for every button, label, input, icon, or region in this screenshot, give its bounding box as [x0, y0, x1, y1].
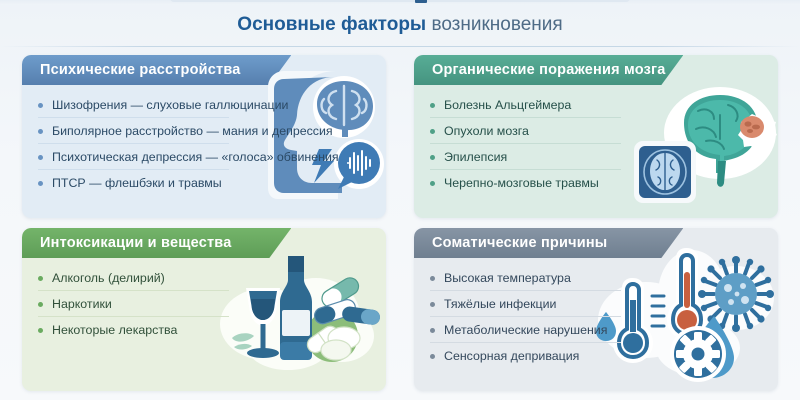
list-item: Черепно-мозговые травмы [430, 170, 778, 196]
list-item: Сенсорная депривация [430, 343, 778, 369]
list-item: Психотическая депрессия — «голоса» обвин… [38, 144, 386, 170]
factor-card-mental-disorders[interactable]: Психические расстройства [22, 55, 386, 218]
factor-list-organic-brain-damage: Болезнь Альцгеймера Опухоли мозга Эпилеп… [414, 85, 778, 196]
truncated-banner-chip [415, 0, 427, 3]
factor-list-somatic-causes: Высокая температура Тяжёлые инфекции Мет… [414, 258, 778, 369]
card-header-organic-brain-damage: Органические поражения мозга [414, 55, 683, 85]
card-header-mental-disorders: Психические расстройства [22, 55, 291, 85]
list-item: Тяжёлые инфекции [430, 291, 778, 317]
list-item: Метаболические нарушения [430, 317, 778, 343]
page-title-light: возникновения [431, 14, 562, 35]
list-item: ПТСР — флешбэки и травмы [38, 170, 386, 196]
truncated-top-banner [0, 0, 800, 5]
list-item: Шизофрения — слуховые галлюцинации [38, 92, 386, 118]
factor-card-intoxication-substances[interactable]: Интоксикации и вещества [22, 228, 386, 391]
title-divider [0, 46, 800, 47]
list-item: Наркотики [38, 291, 386, 317]
list-item: Некоторые лекарства [38, 317, 386, 343]
list-item: Опухоли мозга [430, 118, 778, 144]
list-item: Биполярное расстройство — мания и депрес… [38, 118, 386, 144]
factor-card-somatic-causes[interactable]: Соматические причины [414, 228, 778, 391]
list-item: Болезнь Альцгеймера [430, 92, 778, 118]
card-header-intoxication-substances: Интоксикации и вещества [22, 228, 291, 258]
factor-card-organic-brain-damage[interactable]: Органические поражения мозга [414, 55, 778, 218]
truncated-banner-bar [170, 0, 630, 2]
card-header-somatic-causes: Соматические причины [414, 228, 683, 258]
page-title: Основные факторы возникновения [0, 14, 800, 36]
list-item: Алкоголь (делирий) [38, 265, 386, 291]
page-title-strong: Основные факторы [237, 14, 426, 35]
factor-list-intoxication-substances: Алкоголь (делирий) Наркотики Некоторые л… [22, 258, 386, 343]
factor-list-mental-disorders: Шизофрения — слуховые галлюцинации Бипол… [22, 85, 386, 196]
list-item: Высокая температура [430, 265, 778, 291]
factor-card-grid: Психические расстройства [22, 55, 778, 391]
list-item: Эпилепсия [430, 144, 778, 170]
